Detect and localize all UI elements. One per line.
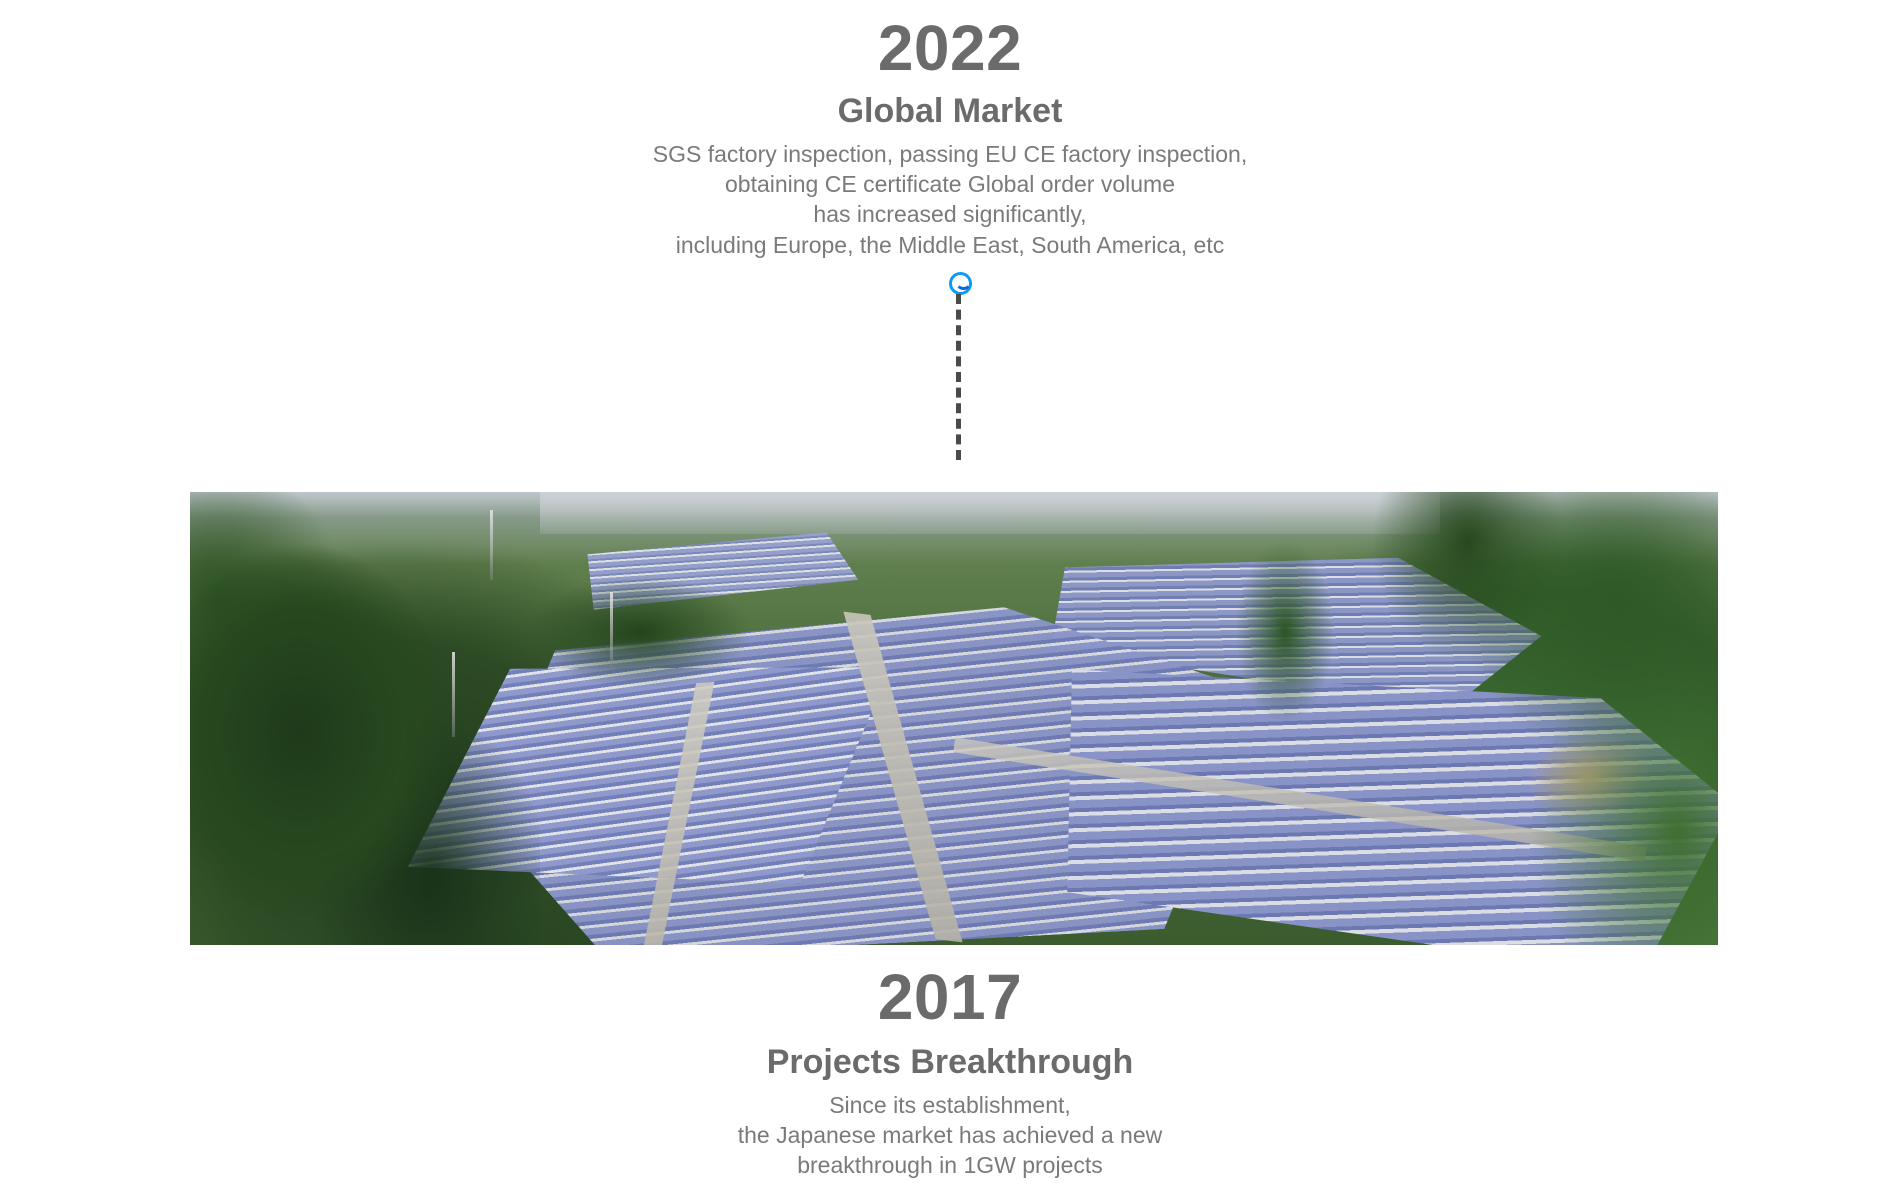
description-line: Since its establishment, [0,1090,1900,1120]
entry-headline-2022: Global Market [0,90,1900,133]
entry-year-2022: 2022 [0,16,1900,80]
photo-forest-right [1318,492,1718,945]
timeline-slide: 2022 Global Market SGS factory inspectio… [0,0,1900,1185]
description-line: SGS factory inspection, passing EU CE fa… [0,139,1900,169]
entry-description-2017: Since its establishment, the Japanese ma… [0,1090,1900,1181]
description-line: obtaining CE certificate Global order vo… [0,169,1900,199]
photo-power-pylon [452,652,455,737]
photo-power-pylon [490,510,493,580]
solar-farm-photo-image [190,492,1718,945]
entry-description-2022: SGS factory inspection, passing EU CE fa… [0,139,1900,260]
photo-distant-town [540,492,1440,534]
entry-year-2017: 2017 [0,965,1900,1029]
description-line: breakthrough in 1GW projects [0,1150,1900,1180]
circle-node-icon[interactable] [949,272,972,295]
timeline-entry-2017: 2017 Projects Breakthrough Since its est… [0,965,1900,1181]
description-line: including Europe, the Middle East, South… [0,230,1900,260]
photo-power-pylon [610,592,613,667]
description-line: the Japanese market has achieved a new [0,1120,1900,1150]
timeline-entry-2022: 2022 Global Market SGS factory inspectio… [0,0,1900,260]
photo-forest-left [190,492,540,945]
entry-headline-2017: Projects Breakthrough [0,1041,1900,1084]
dashed-vertical-line-icon [956,294,961,460]
photo-forest-center [520,572,780,702]
description-line: has increased significantly, [0,199,1900,229]
solar-farm-photo [190,492,1718,945]
